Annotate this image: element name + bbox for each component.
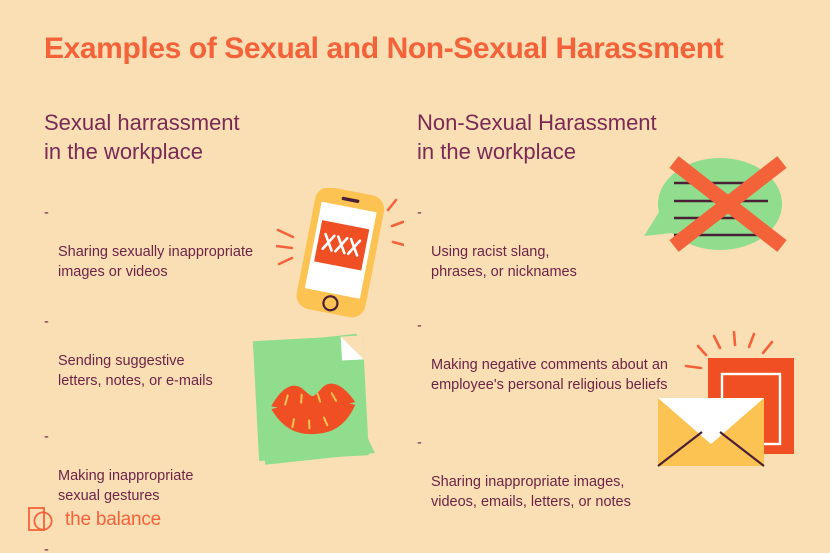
bullet-dash: - (44, 428, 49, 448)
brand-logo[interactable]: the balance (26, 505, 161, 535)
bullet-dash: - (417, 434, 422, 454)
smartphone-xxx-illustration (276, 188, 404, 320)
list-item-text: Making inappropriate sexual gestures (58, 468, 193, 504)
bullet-dash: - (44, 313, 49, 333)
bullet-dash: - (417, 204, 422, 224)
sticky-note-lips-illustration (248, 332, 383, 468)
column-heading-left: Sexual harrassment in the workplace (44, 108, 394, 167)
list-item-text: Making negative comments about an employ… (431, 357, 668, 393)
column-sexual-harassment: Sexual harrassment in the workplace - Sh… (44, 108, 394, 167)
brand-name: the balance (65, 509, 161, 531)
balance-logo-icon (26, 505, 56, 535)
bullet-dash: - (417, 547, 422, 553)
envelope-letter-illustration (646, 328, 816, 470)
list-item-text: Sending suggestive letters, notes, or e-… (58, 353, 213, 389)
bullet-dash: - (44, 204, 49, 224)
bullet-dash: - (44, 541, 49, 553)
crossed-out-speech-bubble-illustration (642, 152, 804, 264)
list-item-text: Using racist slang, phrases, or nickname… (431, 244, 577, 280)
list-item-text: Sharing inappropriate images, videos, em… (431, 474, 631, 510)
infographic-canvas: Examples of Sexual and Non-Sexual Harass… (0, 0, 830, 553)
list-item: - Wearing clothing that could be offensi… (417, 547, 741, 553)
page-title: Examples of Sexual and Non-Sexual Harass… (44, 32, 804, 67)
list-item-text: Sharing sexually inappropriate images or… (58, 244, 253, 280)
bullet-dash: - (417, 317, 422, 337)
list-item: - Inappropriate touching (44, 541, 358, 553)
